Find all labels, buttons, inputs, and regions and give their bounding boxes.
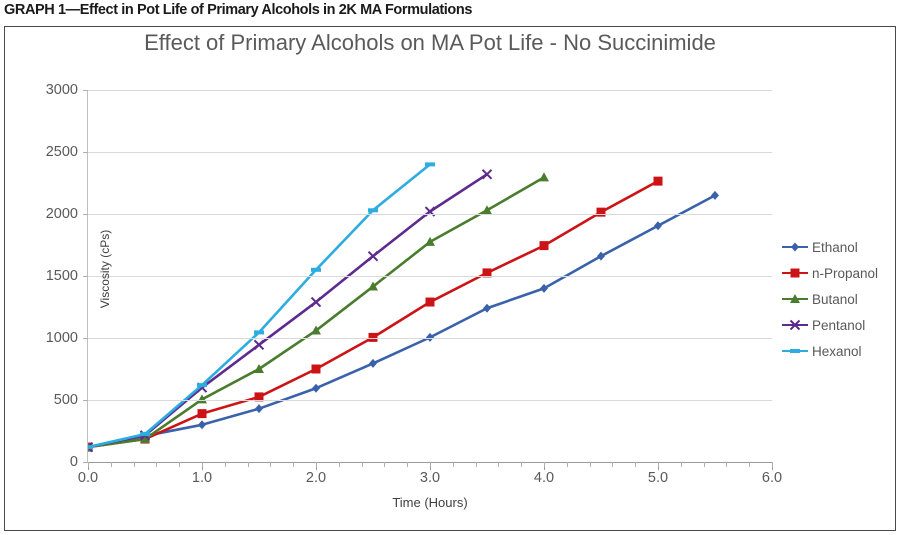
x-axis-minor-tick	[658, 462, 659, 467]
plot-area	[88, 90, 772, 462]
data-point-marker	[654, 221, 662, 230]
x-axis-label: Time (Hours)	[88, 495, 772, 510]
chart-title: Effect of Primary Alcohols on MA Pot Lif…	[60, 30, 800, 56]
y-axis-tick-mark	[83, 214, 88, 215]
legend-swatch-icon	[782, 292, 808, 306]
gridline	[88, 214, 772, 215]
x-axis-minor-tick	[270, 462, 271, 467]
x-axis-minor-tick	[111, 462, 112, 467]
legend-swatch-icon	[782, 266, 808, 280]
legend-label: Butanol	[812, 292, 858, 307]
x-axis-minor-tick	[590, 462, 591, 467]
y-axis-tick-mark	[83, 276, 88, 277]
y-axis-tick-mark	[83, 90, 88, 91]
data-point-marker	[711, 191, 719, 200]
data-point-marker	[198, 420, 206, 429]
x-axis-minor-tick	[248, 462, 249, 467]
x-axis-tick-label: 2.0	[286, 470, 346, 486]
x-axis-minor-tick	[384, 462, 385, 467]
y-axis-tick-label: 1500	[18, 268, 78, 284]
y-axis-tick-mark	[83, 152, 88, 153]
legend-item-n-propanol[interactable]: n-Propanol	[782, 260, 892, 286]
data-point-marker	[539, 172, 549, 181]
x-axis-ticks: 0.01.02.03.04.05.06.0	[88, 470, 772, 492]
x-axis-minor-tick	[316, 462, 317, 467]
legend-item-ethanol[interactable]: Ethanol	[782, 234, 892, 260]
y-axis-tick-label: 2000	[18, 206, 78, 222]
x-axis-minor-tick	[179, 462, 180, 467]
data-point-marker	[311, 268, 321, 272]
legend-marker-icon	[782, 240, 808, 254]
data-point-marker	[426, 298, 435, 307]
data-point-marker	[369, 252, 378, 261]
x-axis-minor-tick	[749, 462, 750, 467]
data-point-marker	[791, 321, 800, 330]
series-hexanol	[88, 162, 435, 449]
legend-marker-icon	[782, 344, 808, 358]
legend-label: n-Propanol	[812, 266, 878, 281]
series-line	[88, 177, 544, 447]
x-axis-minor-tick	[430, 462, 431, 467]
x-axis-minor-tick	[476, 462, 477, 467]
legend-marker-icon	[782, 318, 808, 332]
data-point-marker	[425, 162, 435, 166]
series-line	[88, 181, 658, 447]
data-point-marker	[540, 241, 549, 250]
x-axis-minor-tick	[407, 462, 408, 467]
figure-title: GRAPH 1—Effect in Pot Life of Primary Al…	[4, 0, 896, 22]
data-point-marker	[255, 404, 263, 413]
data-point-marker	[597, 252, 605, 261]
x-axis-minor-tick	[453, 462, 454, 467]
data-point-marker	[197, 383, 207, 387]
legend-swatch-icon	[782, 318, 808, 332]
gridline	[88, 90, 772, 91]
data-point-marker	[483, 304, 491, 313]
y-axis-tick-label: 0	[18, 454, 78, 470]
data-point-marker	[312, 365, 321, 374]
gridline	[88, 338, 772, 339]
legend-swatch-icon	[782, 240, 808, 254]
data-point-marker	[654, 177, 663, 186]
legend-label: Hexanol	[812, 344, 862, 359]
x-axis-minor-tick	[134, 462, 135, 467]
x-axis-minor-tick	[156, 462, 157, 467]
data-point-marker	[255, 340, 264, 349]
x-axis-minor-tick	[772, 462, 773, 467]
data-point-marker	[791, 269, 800, 278]
data-point-marker	[791, 243, 799, 252]
x-axis-tick-label: 3.0	[400, 470, 460, 486]
y-axis-ticks: 050010001500200025003000	[12, 90, 78, 462]
y-axis-tick-label: 3000	[18, 82, 78, 98]
data-point-marker	[198, 409, 207, 418]
legend-marker-icon	[782, 292, 808, 306]
x-axis-minor-tick	[362, 462, 363, 467]
x-axis-tick-label: 6.0	[742, 470, 802, 486]
chart-legend: Ethanoln-PropanolButanolPentanolHexanol	[782, 234, 892, 364]
data-point-marker	[482, 205, 492, 214]
x-axis-minor-tick	[726, 462, 727, 467]
legend-item-pentanol[interactable]: Pentanol	[782, 312, 892, 338]
legend-swatch-icon	[782, 344, 808, 358]
x-axis-tick-label: 4.0	[514, 470, 574, 486]
y-axis-tick-label: 2500	[18, 144, 78, 160]
gridline	[88, 400, 772, 401]
data-point-marker	[597, 208, 606, 217]
data-point-marker	[369, 359, 377, 368]
y-axis-tick-label: 1000	[18, 330, 78, 346]
y-axis-tick-label: 500	[18, 392, 78, 408]
data-point-marker	[312, 384, 320, 393]
x-axis-minor-tick	[498, 462, 499, 467]
x-axis-tick-label: 5.0	[628, 470, 688, 486]
data-point-marker	[483, 170, 492, 179]
x-axis-minor-tick	[225, 462, 226, 467]
x-axis-tick-label: 1.0	[172, 470, 232, 486]
gridline	[88, 152, 772, 153]
x-axis-tick-label: 0.0	[58, 470, 118, 486]
data-point-marker	[540, 284, 548, 293]
series-pentanol	[88, 170, 492, 452]
y-axis-tick-mark	[83, 400, 88, 401]
y-axis-tick-mark	[83, 338, 88, 339]
data-point-marker	[312, 298, 321, 307]
x-axis-minor-tick	[293, 462, 294, 467]
x-axis-minor-tick	[612, 462, 613, 467]
data-point-marker	[254, 330, 264, 334]
legend-label: Pentanol	[812, 318, 865, 333]
gridline	[88, 276, 772, 277]
legend-marker-icon	[782, 266, 808, 280]
x-axis-minor-tick	[567, 462, 568, 467]
y-axis-label: Viscosity (cPs)	[98, 194, 112, 344]
data-point-marker	[368, 208, 378, 212]
x-axis-minor-tick	[88, 462, 89, 467]
data-point-marker	[140, 432, 150, 436]
x-axis-minor-tick	[704, 462, 705, 467]
x-axis-minor-tick	[521, 462, 522, 467]
x-axis-minor-tick	[635, 462, 636, 467]
data-point-marker	[88, 445, 93, 449]
data-point-marker	[790, 349, 800, 353]
legend-label: Ethanol	[812, 240, 858, 255]
legend-item-butanol[interactable]: Butanol	[782, 286, 892, 312]
x-axis-minor-tick	[339, 462, 340, 467]
x-axis-minor-tick	[681, 462, 682, 467]
x-axis-minor-tick	[202, 462, 203, 467]
legend-item-hexanol[interactable]: Hexanol	[782, 338, 892, 364]
x-axis-minor-tick	[544, 462, 545, 467]
data-point-marker	[790, 294, 800, 303]
